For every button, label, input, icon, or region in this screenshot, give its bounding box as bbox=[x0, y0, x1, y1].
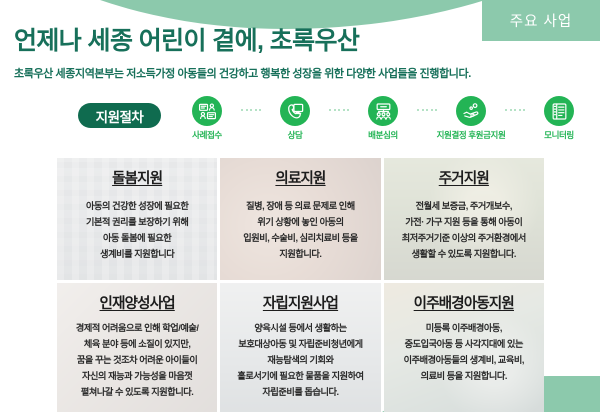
program-card-care[interactable]: 돌봄지원 아동의 건강한 성장에 필요한 기본적 권리를 보장하기 위해 아동 … bbox=[57, 158, 217, 280]
step-connector-dots bbox=[503, 109, 527, 111]
program-card-talent[interactable]: 인재양성사업 경제적 어려움으로 인해 학업/예술/ 체육 분야 등에 소질이 … bbox=[57, 283, 217, 412]
program-card-grid: 돌봄지원 아동의 건강한 성장에 필요한 기본적 권리를 보장하기 위해 아동 … bbox=[57, 158, 544, 412]
step-connector-dots bbox=[415, 109, 439, 111]
phone-consult-icon bbox=[280, 96, 310, 126]
page-root: 주요 사업 언제나 세종 어린이 곁에, 초록우산 초록우산 세종지역본부는 저… bbox=[0, 0, 600, 412]
program-card-medical[interactable]: 의료지원 질병, 장애 등 의료 문제로 인해 위기 상황에 놓인 아동의 입원… bbox=[220, 158, 380, 280]
process-step-consultation[interactable]: 상담 bbox=[263, 96, 327, 141]
card-description: 양육시설 등에서 생활하는 보호대상아동 및 자립준비청년에게 재능탐색의 기회… bbox=[237, 320, 363, 400]
step-label: 배분심의 bbox=[368, 130, 398, 141]
card-description: 경제적 어려움으로 인해 학업/예술/ 체육 분야 등에 소질이 있지만, 꿈을… bbox=[76, 320, 199, 400]
process-pill-label: 지원절차 bbox=[78, 103, 161, 128]
program-card-migrant[interactable]: 이주배경아동지원 미등록 이주배경아동, 중도입국아동 등 사각지대에 있는 이… bbox=[384, 283, 544, 412]
card-title: 인재양성사업 bbox=[100, 292, 175, 313]
step-connector-dots bbox=[239, 109, 263, 111]
card-description: 질병, 장애 등 의료 문제로 인해 위기 상황에 놓인 아동의 입원비, 수술… bbox=[243, 198, 358, 262]
card-description: 아동의 건강한 성장에 필요한 기본적 권리를 보장하기 위해 아동 돌봄에 필… bbox=[86, 198, 188, 262]
step-label: 사례접수 bbox=[192, 130, 222, 141]
card-title: 의료지원 bbox=[275, 167, 325, 188]
process-step-case-intake[interactable]: 사례접수 bbox=[175, 96, 239, 141]
card-title: 돌봄지원 bbox=[112, 167, 162, 188]
support-process-strip: 지원절차 사례접 bbox=[0, 96, 600, 152]
page-title: 언제나 세종 어린이 곁에, 초록우산 bbox=[14, 27, 471, 56]
process-step-committee-review[interactable]: 배분심의 bbox=[351, 96, 415, 141]
step-label: 상담 bbox=[288, 130, 303, 141]
step-connector-dots bbox=[327, 109, 351, 111]
card-description: 전월세 보증금, 주거개보수, 가전· 가구 지원 등을 통해 아동이 최저주거… bbox=[402, 198, 526, 262]
hand-funding-icon bbox=[456, 96, 486, 126]
card-title: 주거지원 bbox=[439, 167, 489, 188]
card-description: 미등록 이주배경아동, 중도입국아동 등 사각지대에 있는 이주배경아동들의 생… bbox=[404, 320, 524, 384]
card-title: 이주배경아동지원 bbox=[414, 292, 514, 313]
main-business-badge: 주요 사업 bbox=[482, 0, 600, 41]
page-subtitle: 초록우산 세종지역본부는 저소득가정 아동들의 건강하고 행복한 성장을 위한 … bbox=[14, 65, 471, 81]
card-title: 자립지원사업 bbox=[263, 292, 338, 313]
process-steps: 사례접수 상담 bbox=[175, 96, 591, 141]
program-card-housing[interactable]: 주거지원 전월세 보증금, 주거개보수, 가전· 가구 지원 등을 통해 아동이… bbox=[384, 158, 544, 280]
committee-review-icon bbox=[368, 96, 398, 126]
step-label: 모니터링 bbox=[544, 130, 574, 141]
clipboard-monitoring-icon bbox=[544, 96, 574, 126]
header-block: 언제나 세종 어린이 곁에, 초록우산 초록우산 세종지역본부는 저소득가정 아… bbox=[14, 27, 471, 81]
program-card-independence[interactable]: 자립지원사업 양육시설 등에서 생활하는 보호대상아동 및 자립준비청년에게 재… bbox=[220, 283, 380, 412]
case-intake-icon bbox=[192, 96, 222, 126]
step-label: 지원결정 후원금지원 bbox=[437, 130, 506, 141]
process-step-monitoring[interactable]: 모니터링 bbox=[527, 96, 591, 141]
process-step-funding-decision[interactable]: 지원결정 후원금지원 bbox=[439, 96, 503, 141]
